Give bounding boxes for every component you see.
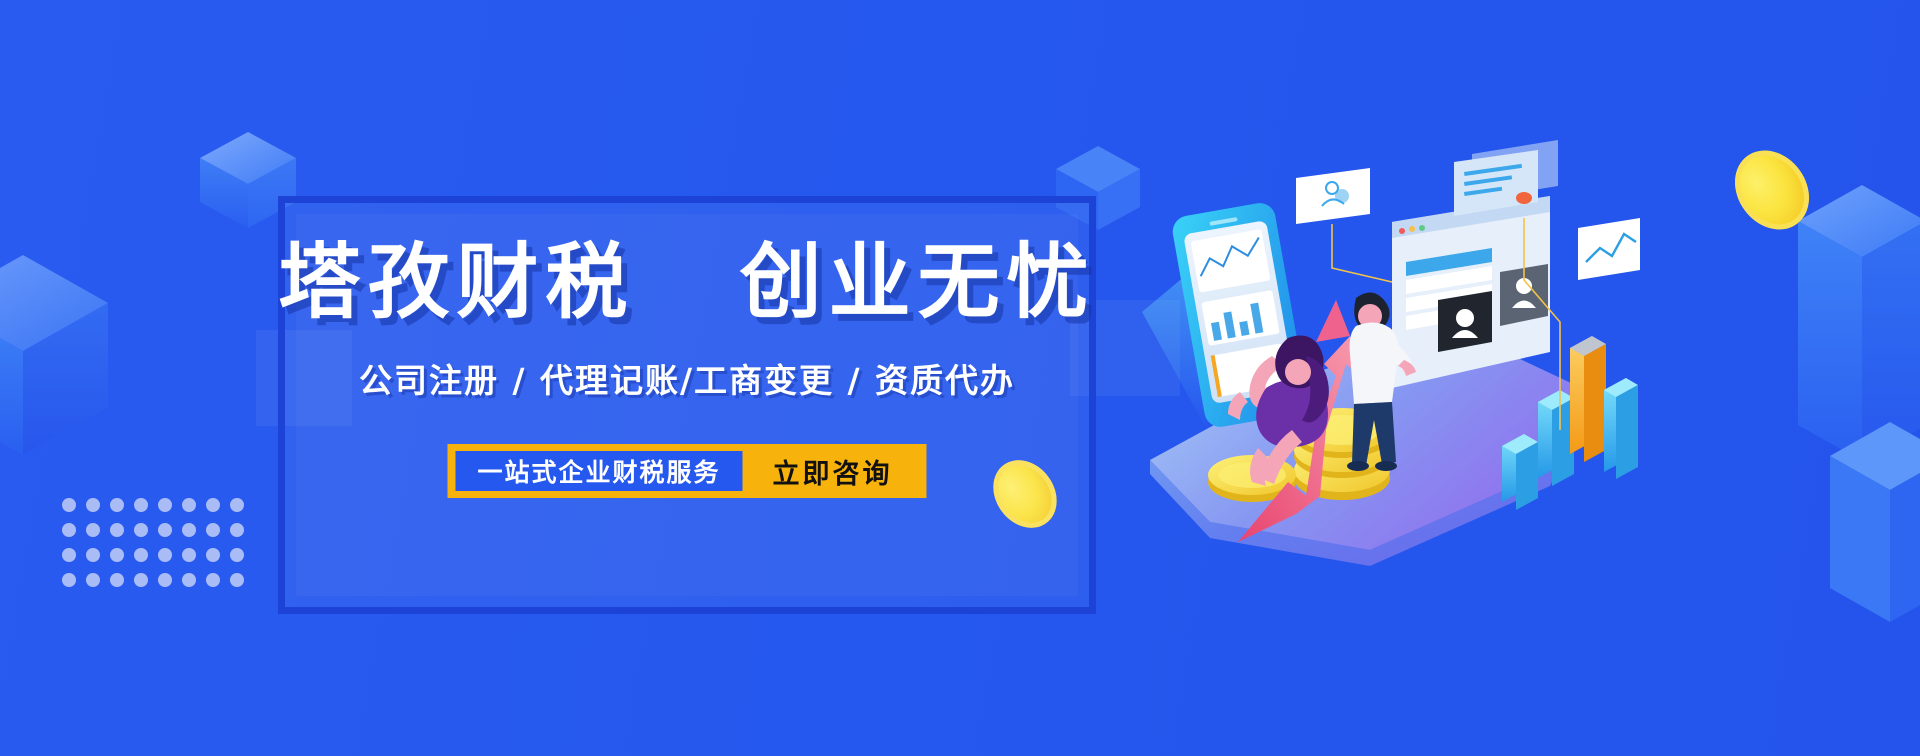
dot-grid-dot	[182, 498, 196, 512]
iso-prism-right-upper-icon	[1798, 185, 1920, 461]
dot-grid-dot	[110, 498, 124, 512]
dot-grid-dot	[206, 498, 220, 512]
floating-coin-top-right-icon	[1720, 136, 1824, 244]
dot-grid-dot	[158, 573, 172, 587]
headline-part-1: 塔孜财税	[278, 235, 634, 330]
dot-grid-dot	[182, 523, 196, 537]
dot-grid-dot	[230, 573, 244, 587]
dot-grid-dot	[134, 548, 148, 562]
dot-grid-dot	[62, 573, 76, 587]
dot-grid-dot	[86, 498, 100, 512]
dot-grid-dot	[86, 573, 100, 587]
dot-grid-dot	[110, 548, 124, 562]
dashboard-window	[1392, 196, 1550, 388]
dot-grid-dot	[230, 548, 244, 562]
consult-now-button[interactable]: 立即咨询	[743, 452, 919, 491]
iso-cube-left-icon	[0, 255, 108, 455]
dot-grid-dot	[182, 548, 196, 562]
dot-grid-dot	[230, 523, 244, 537]
dot-grid-dot	[62, 523, 76, 537]
dot-grid-dot	[206, 548, 220, 562]
dot-grid-dot	[110, 573, 124, 587]
dot-grid-dot	[110, 523, 124, 537]
contact-card	[1296, 168, 1370, 224]
dot-grid-dot	[230, 498, 244, 512]
isometric-finance-illustration	[1120, 130, 1640, 590]
dot-grid-dot	[206, 573, 220, 587]
iso-prism-right-lower-icon	[1830, 422, 1920, 622]
cta-bar[interactable]: 一站式企业财税服务 立即咨询	[447, 444, 926, 498]
dot-grid-dot	[62, 498, 76, 512]
service-list-subtitle: 公司注册 / 代理记账/工商变更 / 资质代办	[278, 364, 1096, 397]
dot-grid-dot	[158, 548, 172, 562]
dot-grid-dot	[134, 573, 148, 587]
dot-grid-dot	[134, 498, 148, 512]
dot-grid-dot	[158, 498, 172, 512]
dot-grid-dot	[86, 548, 100, 562]
page-title: 塔孜财税 创业无忧	[278, 242, 1096, 324]
headline-part-2: 创业无忧	[740, 235, 1096, 330]
dot-grid-dot	[86, 523, 100, 537]
line-chart-card	[1578, 218, 1640, 280]
dot-grid-dot	[134, 523, 148, 537]
dot-grid-dot	[182, 573, 196, 587]
dot-grid-decoration	[62, 498, 242, 590]
copy-block: 塔孜财税 创业无忧 公司注册 / 代理记账/工商变更 / 资质代办 一站式企业财…	[278, 196, 1096, 614]
connector-line-a	[1332, 224, 1392, 282]
dot-grid-dot	[206, 523, 220, 537]
promo-banner: 塔孜财税 创业无忧 公司注册 / 代理记账/工商变更 / 资质代办 一站式企业财…	[0, 0, 1920, 756]
dot-grid-dot	[158, 523, 172, 537]
dot-grid-dot	[62, 548, 76, 562]
cta-tagline: 一站式企业财税服务	[455, 451, 742, 491]
